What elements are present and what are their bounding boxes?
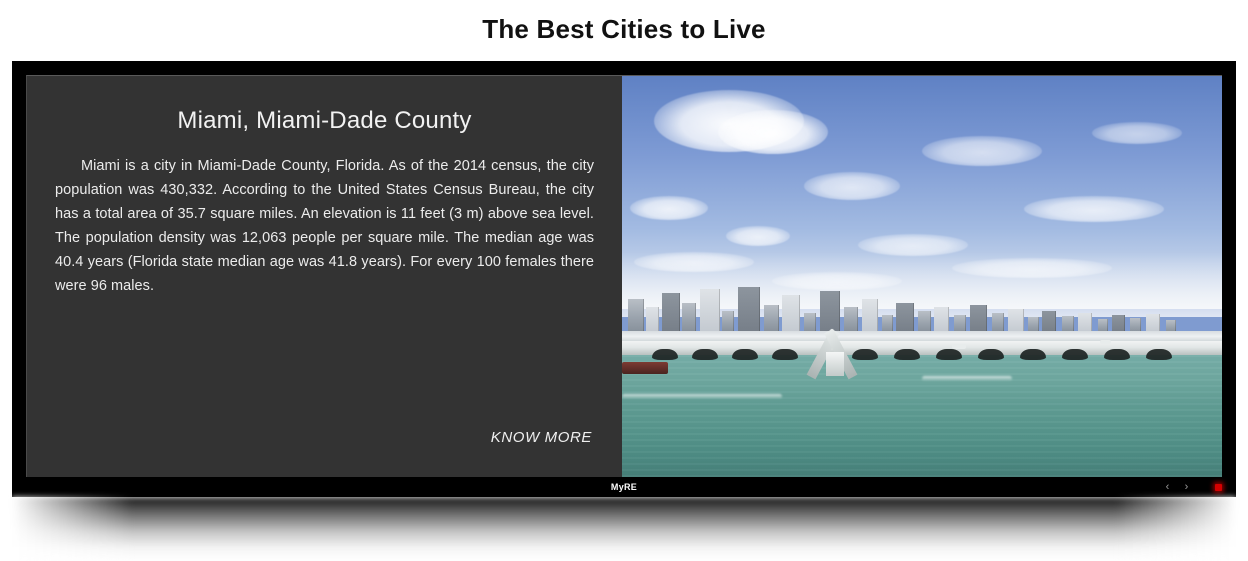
photo-boat <box>1100 340 1111 344</box>
photo-barge <box>622 362 668 374</box>
photo-boat <box>952 344 966 349</box>
know-more-wrap: KNOW MORE <box>55 429 594 467</box>
slide-heading: Miami, Miami-Dade County <box>55 106 594 136</box>
photo-cloud <box>804 172 900 200</box>
prev-arrow-icon[interactable]: ‹ <box>1163 482 1172 493</box>
brand-logo: MyRE <box>611 482 637 492</box>
photo-wake <box>922 376 1012 381</box>
slide-indicator-dot[interactable] <box>1215 484 1222 491</box>
photo-causeway <box>622 341 1222 355</box>
photo-cloud <box>726 226 790 246</box>
next-arrow-icon[interactable]: › <box>1182 482 1191 493</box>
photo-cloud <box>1092 122 1182 144</box>
slider-nav-controls: ‹ › <box>1163 477 1222 497</box>
slider-footer: MyRE ‹ › <box>12 477 1236 497</box>
slide-photo <box>622 76 1222 477</box>
photo-cloud <box>630 196 708 220</box>
photo-bridge-house <box>826 352 844 376</box>
photo-skyline <box>622 285 1222 333</box>
photo-cloud <box>718 110 828 154</box>
page-title: The Best Cities to Live <box>0 12 1248 46</box>
slider-frame: Miami, Miami-Dade County Miami is a city… <box>12 61 1236 497</box>
slide-body-text: Miami is a city in Miami-Dade County, Fl… <box>55 154 594 298</box>
photo-cloud <box>922 136 1042 166</box>
slide-text-pane: Miami, Miami-Dade County Miami is a city… <box>27 76 622 477</box>
photo-wake <box>622 394 782 399</box>
know-more-link[interactable]: KNOW MORE <box>491 429 592 446</box>
photo-cloud <box>1024 196 1164 222</box>
slide: Miami, Miami-Dade County Miami is a city… <box>26 75 1222 477</box>
photo-water <box>622 343 1222 477</box>
frame-drop-shadow <box>12 497 1236 561</box>
